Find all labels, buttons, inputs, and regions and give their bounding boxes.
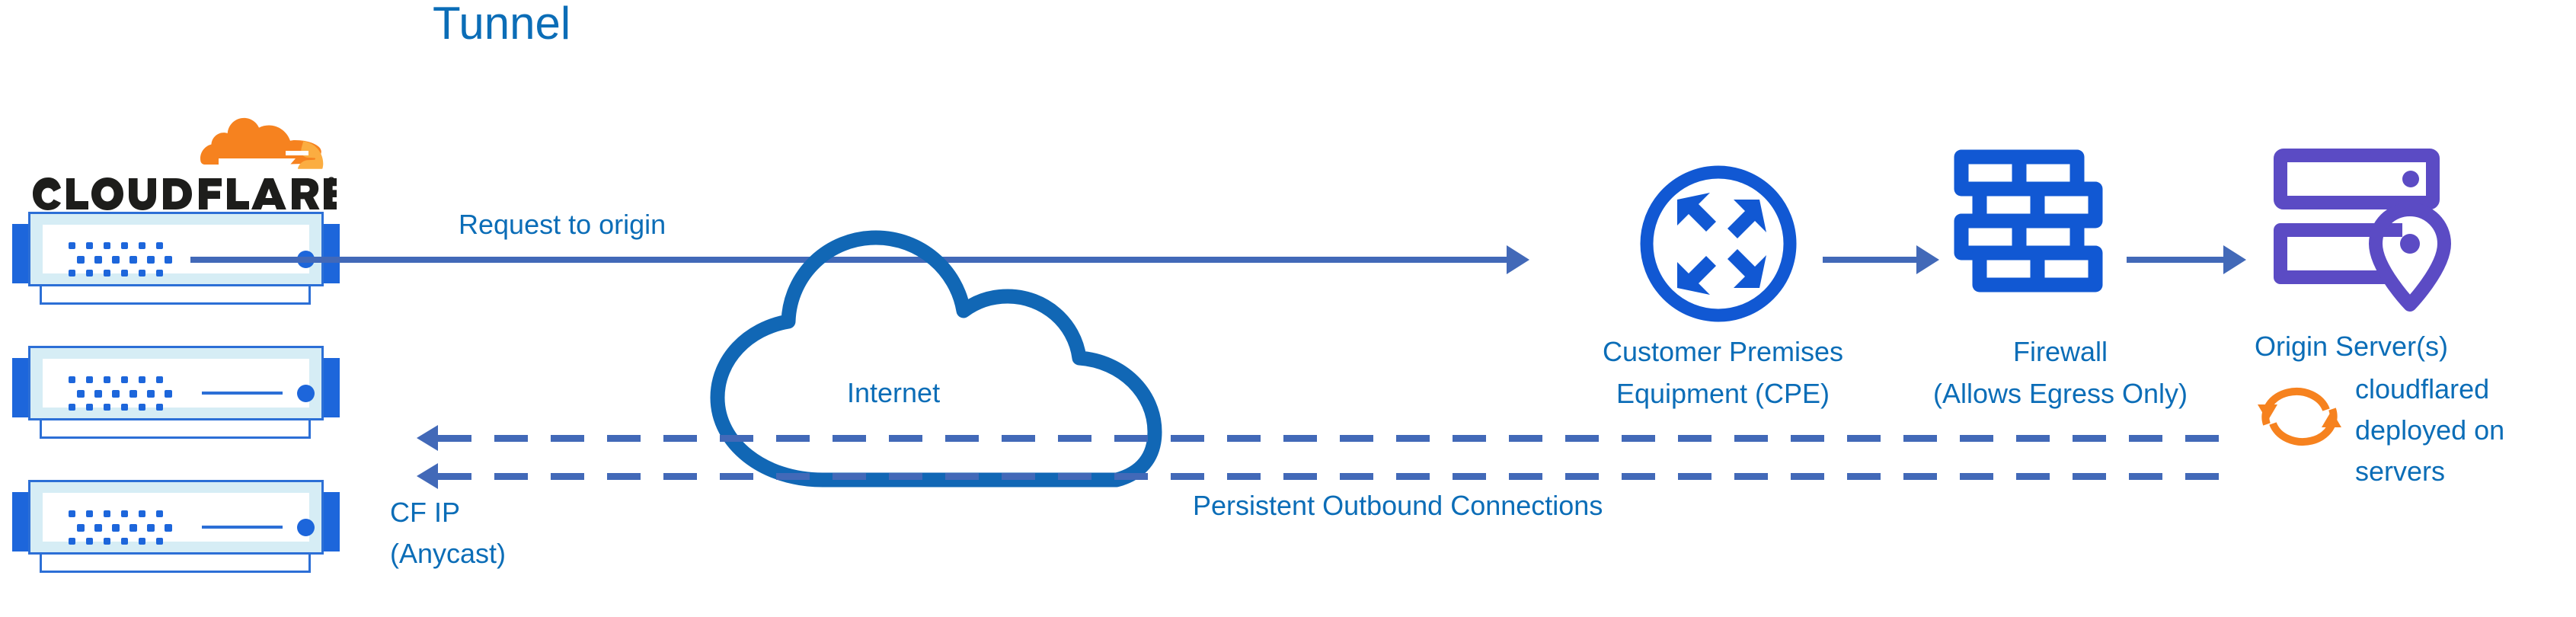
rack-base (40, 552, 311, 573)
firewall-to-origin-arrow-head-icon (2223, 245, 2246, 274)
cloudflare-logo (15, 107, 343, 213)
rack-ear-right (323, 492, 340, 551)
rack-ear-left (12, 492, 29, 551)
cloudflare-cloud-logo-icon (171, 107, 324, 177)
rack-body (28, 346, 324, 420)
rack-port-dots-icon (67, 510, 174, 546)
cf-ip-line2: (Anycast) (390, 533, 506, 574)
cloudflared-label-line3: servers (2355, 451, 2561, 492)
cloud-outline-icon (701, 229, 1196, 494)
rack-base (40, 418, 311, 439)
firewall-label-line2: (Allows Egress Only) (1881, 372, 2239, 414)
server-rack-icon (12, 475, 340, 571)
firewall-label-line1: Firewall (1881, 331, 2239, 372)
router-four-arrows-icon (1636, 161, 1801, 326)
outbound-dashed-line (438, 435, 2228, 442)
page-title: Tunnel (433, 0, 570, 50)
cpe-label-line1: Customer Premises (1545, 331, 1901, 372)
server-stack-location-pin-icon (2271, 146, 2451, 321)
outbound-dashed-line (438, 473, 2228, 480)
cf-ip-label: CF IP (Anycast) (390, 492, 506, 574)
rack-led-icon (297, 519, 315, 536)
outbound-arrow-head-icon (417, 463, 438, 489)
firewall-label: Firewall (Allows Egress Only) (1881, 331, 2239, 414)
rack-port-dots-icon (67, 241, 174, 278)
rack-status-line (202, 392, 283, 395)
sync-arrows-icon (2253, 377, 2346, 453)
rack-ear-right (323, 224, 340, 283)
cpe-label: Customer Premises Equipment (CPE) (1545, 331, 1901, 414)
rack-ear-left (12, 224, 29, 283)
server-rack-icon (12, 341, 340, 436)
firewall-to-origin-arrow-line (2127, 257, 2230, 263)
rack-base (40, 284, 311, 305)
rack-body (28, 212, 324, 286)
rack-led-icon (297, 385, 315, 402)
rack-body (28, 480, 324, 555)
rack-ear-right (323, 358, 340, 417)
brick-wall-icon (1954, 149, 2118, 305)
rack-ear-left (12, 358, 29, 417)
tunnel-diagram: Tunnel (0, 0, 2576, 617)
internet-label: Internet (847, 377, 940, 409)
origin-server-label: Origin Server(s) (2255, 331, 2448, 363)
request-arrow-head-icon (1507, 245, 1529, 274)
cpe-to-firewall-arrow-line (1823, 257, 1923, 263)
request-arrow-label: Request to origin (459, 209, 666, 241)
rack-port-dots-icon (67, 376, 174, 412)
cf-ip-line1: CF IP (390, 492, 506, 533)
persistent-connections-label: Persistent Outbound Connections (1193, 490, 1603, 522)
cpe-to-firewall-arrow-head-icon (1916, 245, 1939, 274)
rack-status-line (202, 526, 283, 529)
cloudflared-label-line2: deployed on (2355, 410, 2561, 451)
server-rack-icon (12, 207, 340, 302)
cloudflared-label-line1: cloudflared (2355, 369, 2561, 410)
cpe-label-line2: Equipment (CPE) (1545, 372, 1901, 414)
cloudflared-label: cloudflared deployed on servers (2355, 369, 2561, 492)
outbound-arrow-head-icon (417, 425, 438, 451)
